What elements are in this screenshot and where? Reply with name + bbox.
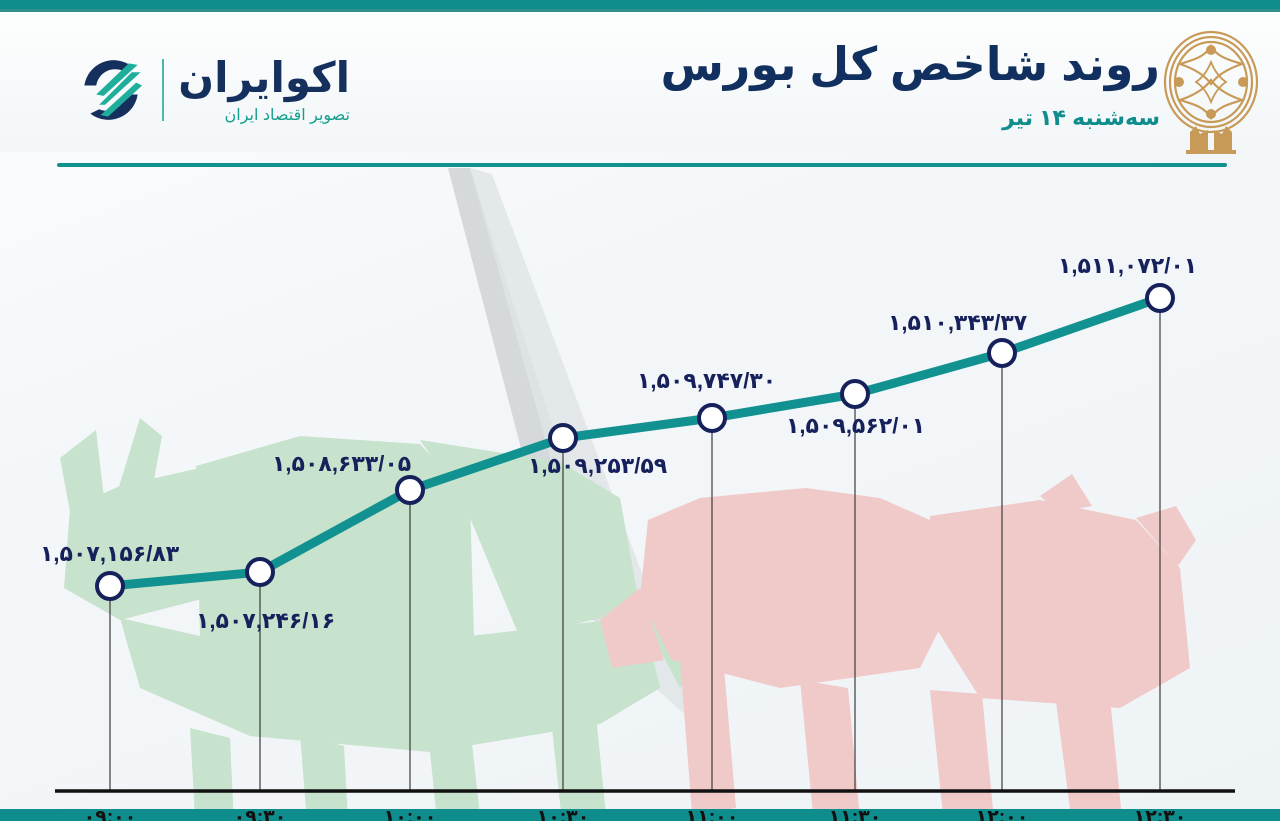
brand-text: اکوایران تصویر اقتصاد ایران (178, 57, 350, 124)
brand-name: اکوایران (178, 57, 350, 99)
brand-tagline: تصویر اقتصاد ایران (225, 108, 350, 124)
x-axis-tick-label: ۱۲:۰۰ (976, 806, 1029, 821)
value-label: ۱,۵۰۹,۲۵۳/۵۹ (528, 453, 667, 479)
brand-logo: اکوایران تصویر اقتصاد ایران (60, 42, 350, 138)
title-block: روند شاخص کل بورس سه‌شنبه ۱۴ تیر (520, 38, 1160, 131)
x-axis-tick-label: ۰۹:۳۰ (234, 806, 287, 821)
x-axis-tick-label: ۱۰:۳۰ (537, 806, 590, 821)
value-label: ۱,۵۰۷,۲۴۶/۱۶ (196, 608, 335, 634)
chart-area: ۱,۵۰۷,۱۵۶/۸۳ ۱,۵۰۷,۲۴۶/۱۶ ۱,۵۰۸,۶۳۳/۰۵ ۱… (0, 168, 1280, 809)
eco-iran-logo-icon (74, 53, 148, 127)
data-point-marker[interactable] (842, 381, 868, 407)
page-date: سه‌شنبه ۱۴ تیر (520, 105, 1160, 131)
value-label: ۱,۵۰۷,۱۵۶/۸۳ (40, 541, 179, 567)
x-axis-tick-label: ۰۹:۰۰ (84, 806, 137, 821)
x-axis-tick-label: ۱۰:۰۰ (384, 806, 437, 821)
tehran-stock-exchange-emblem-icon (1156, 26, 1266, 158)
drop-lines (110, 298, 1160, 791)
data-point-marker[interactable] (550, 425, 576, 451)
bottom-accent-bar (0, 809, 1280, 821)
data-point-marker[interactable] (989, 340, 1015, 366)
data-point-marker[interactable] (699, 405, 725, 431)
data-point-marker[interactable] (397, 477, 423, 503)
value-label: ۱,۵۰۸,۶۳۳/۰۵ (272, 451, 411, 477)
data-point-marker[interactable] (1147, 285, 1173, 311)
value-label: ۱,۵۱۱,۰۷۲/۰۱ (1058, 253, 1197, 279)
value-label: ۱,۵۰۹,۷۴۷/۳۰ (637, 368, 776, 394)
header-divider (57, 163, 1227, 167)
value-label: ۱,۵۱۰,۳۴۳/۳۷ (888, 310, 1027, 336)
infographic-page: اکوایران تصویر اقتصاد ایران روند شاخص کل… (0, 0, 1280, 821)
header: اکوایران تصویر اقتصاد ایران روند شاخص کل… (0, 12, 1280, 152)
data-point-marker[interactable] (247, 559, 273, 585)
x-axis-tick-label: ۱۲:۳۰ (1134, 806, 1187, 821)
top-accent-bar (0, 0, 1280, 9)
logo-divider (162, 59, 164, 121)
value-label: ۱,۵۰۹,۵۶۲/۰۱ (786, 413, 925, 439)
page-title: روند شاخص کل بورس (520, 38, 1160, 91)
data-point-marker[interactable] (97, 573, 123, 599)
x-axis-tick-label: ۱۱:۰۰ (686, 806, 739, 821)
x-axis-tick-label: ۱۱:۳۰ (829, 806, 882, 821)
